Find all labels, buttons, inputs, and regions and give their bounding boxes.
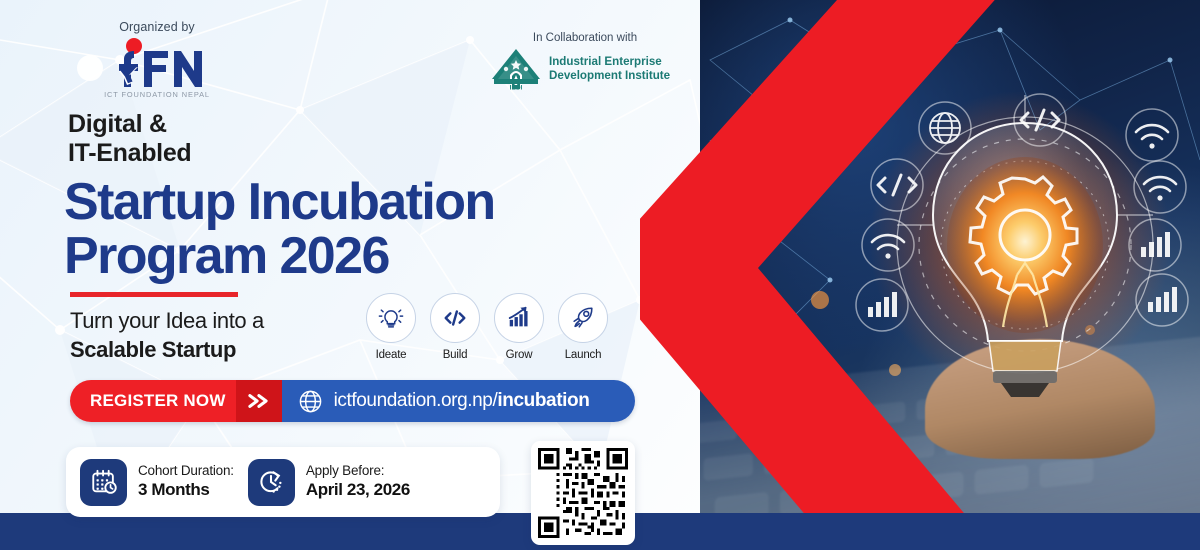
url-prefix: ictfoundation.org.np/ bbox=[334, 390, 498, 411]
register-now-button[interactable]: REGISTER NOW bbox=[70, 380, 236, 422]
photo-tech-icons bbox=[700, 0, 1200, 550]
ifn-logo-icon bbox=[102, 37, 212, 89]
kicker-line-1: Digital & bbox=[68, 110, 191, 139]
step-label: Build bbox=[430, 349, 480, 361]
iedi-name-line1: Industrial Enterprise bbox=[549, 55, 670, 69]
tagline-line-1: Turn your Idea into a bbox=[70, 306, 264, 335]
organizer-block: Organized by ICT FOUNDATION NEPAL bbox=[62, 20, 252, 99]
process-steps: Ideate Build bbox=[366, 293, 608, 361]
headline-line-2: Program 2026 bbox=[64, 229, 495, 283]
step-grow[interactable]: Grow bbox=[494, 293, 544, 361]
qr-code-card[interactable] bbox=[531, 441, 635, 545]
website-url-area[interactable]: ictfoundation.org.np/incubation bbox=[282, 380, 635, 422]
info-card: Cohort Duration: 3 Months Apply Before: bbox=[66, 447, 500, 517]
step-label: Ideate bbox=[366, 349, 416, 361]
step-build[interactable]: Build bbox=[430, 293, 480, 361]
collaboration-label: In Collaboration with bbox=[490, 32, 680, 44]
info-value: April 23, 2026 bbox=[306, 480, 410, 501]
info-apply-before: Apply Before: April 23, 2026 bbox=[248, 459, 410, 506]
hero-photo bbox=[700, 0, 1200, 550]
lightbulb-icon bbox=[366, 293, 416, 343]
iedi-name-line2: Development Institute bbox=[549, 69, 670, 83]
tagline-line-2: Scalable Startup bbox=[70, 337, 236, 362]
code-brackets-icon bbox=[430, 293, 480, 343]
organized-by-label: Organized by bbox=[62, 20, 252, 34]
bar-chart-arrow-icon bbox=[494, 293, 544, 343]
collaboration-block: In Collaboration with IEDI Industrial En… bbox=[490, 32, 680, 91]
qr-code-icon bbox=[538, 448, 628, 538]
step-launch[interactable]: Launch bbox=[558, 293, 608, 361]
website-url: ictfoundation.org.np/incubation bbox=[334, 390, 590, 412]
headline-line-1: Startup Incubation bbox=[64, 175, 495, 229]
globe-icon bbox=[298, 389, 323, 414]
register-now-label: REGISTER NOW bbox=[90, 391, 226, 411]
headline-kicker: Digital & IT-Enabled bbox=[68, 110, 191, 168]
step-label: Grow bbox=[494, 349, 544, 361]
kicker-line-2: IT-Enabled bbox=[68, 139, 191, 168]
ifn-logo-subtitle: ICT FOUNDATION NEPAL bbox=[62, 90, 252, 99]
url-bold: incubation bbox=[497, 390, 589, 411]
red-accent-rule bbox=[70, 292, 238, 297]
iedi-triangle-logo-icon: IEDI bbox=[490, 47, 542, 91]
register-cta-bar[interactable]: REGISTER NOW ictfoundation.org.np/incuba… bbox=[70, 380, 635, 422]
double-chevron-right-icon bbox=[236, 380, 284, 422]
step-ideate[interactable]: Ideate bbox=[366, 293, 416, 361]
info-cohort-duration: Cohort Duration: 3 Months bbox=[80, 459, 234, 506]
info-value: 3 Months bbox=[138, 480, 234, 501]
rocket-icon bbox=[558, 293, 608, 343]
svg-text:IEDI: IEDI bbox=[510, 85, 523, 92]
promo-banner: Organized by ICT FOUNDATION NEPAL In Col… bbox=[0, 0, 1200, 550]
page-title: Startup Incubation Program 2026 bbox=[64, 175, 495, 283]
step-label: Launch bbox=[558, 349, 608, 361]
tagline: Turn your Idea into a Scalable Startup bbox=[70, 306, 264, 364]
calendar-clock-icon bbox=[80, 459, 127, 506]
info-label: Apply Before: bbox=[306, 463, 410, 480]
info-label: Cohort Duration: bbox=[138, 463, 234, 480]
clock-arrow-icon bbox=[248, 459, 295, 506]
iedi-name: Industrial Enterprise Development Instit… bbox=[549, 55, 670, 83]
